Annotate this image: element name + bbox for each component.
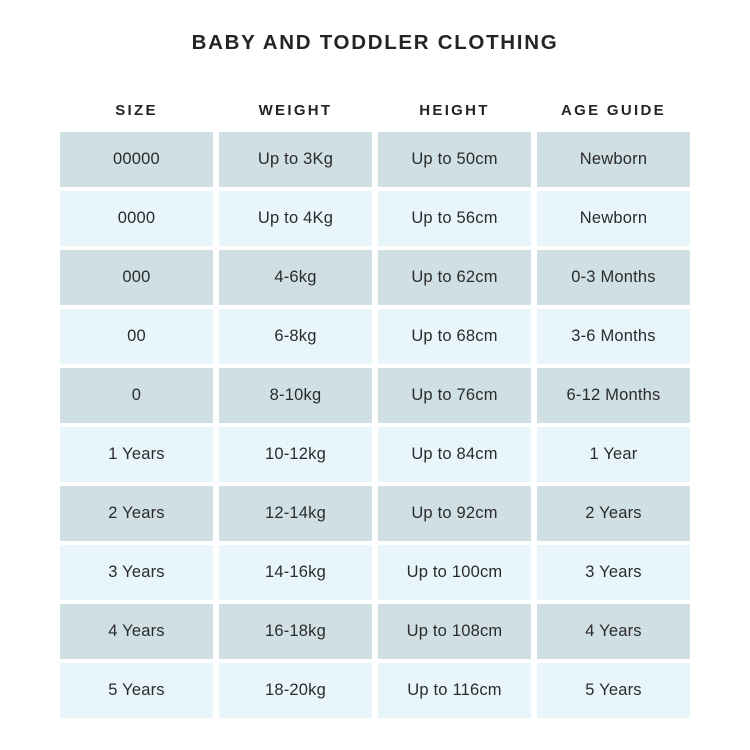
cell-size: 00	[60, 309, 213, 364]
cell-height: Up to 108cm	[378, 604, 531, 659]
table-row: 5 Years 18-20kg Up to 116cm 5 Years	[60, 663, 690, 718]
cell-size: 1 Years	[60, 427, 213, 482]
cell-weight: 6-8kg	[219, 309, 372, 364]
cell-age: Newborn	[537, 132, 690, 187]
cell-weight: 18-20kg	[219, 663, 372, 718]
table-row: 0 8-10kg Up to 76cm 6-12 Months	[60, 368, 690, 423]
cell-size: 3 Years	[60, 545, 213, 600]
cell-weight: 4-6kg	[219, 250, 372, 305]
table-row: 00 6-8kg Up to 68cm 3-6 Months	[60, 309, 690, 364]
cell-height: Up to 68cm	[378, 309, 531, 364]
table-row: 4 Years 16-18kg Up to 108cm 4 Years	[60, 604, 690, 659]
cell-age: Newborn	[537, 191, 690, 246]
cell-size: 4 Years	[60, 604, 213, 659]
size-chart-page: BABY AND TODDLER CLOTHING SIZE WEIGHT HE…	[0, 0, 750, 750]
cell-weight: 16-18kg	[219, 604, 372, 659]
column-header-height: HEIGHT	[378, 102, 531, 119]
cell-weight: 12-14kg	[219, 486, 372, 541]
cell-height: Up to 84cm	[378, 427, 531, 482]
cell-age: 5 Years	[537, 663, 690, 718]
cell-height: Up to 62cm	[378, 250, 531, 305]
cell-weight: Up to 4Kg	[219, 191, 372, 246]
column-header-size: SIZE	[60, 102, 213, 119]
table-row: 3 Years 14-16kg Up to 100cm 3 Years	[60, 545, 690, 600]
cell-size: 2 Years	[60, 486, 213, 541]
cell-height: Up to 50cm	[378, 132, 531, 187]
table-row: 000 4-6kg Up to 62cm 0-3 Months	[60, 250, 690, 305]
cell-age: 6-12 Months	[537, 368, 690, 423]
cell-size: 00000	[60, 132, 213, 187]
column-header-weight: WEIGHT	[219, 102, 372, 119]
table-row: 1 Years 10-12kg Up to 84cm 1 Year	[60, 427, 690, 482]
cell-size: 0	[60, 368, 213, 423]
cell-height: Up to 116cm	[378, 663, 531, 718]
column-header-age-guide: AGE GUIDE	[537, 102, 690, 119]
table-row: 2 Years 12-14kg Up to 92cm 2 Years	[60, 486, 690, 541]
cell-age: 3 Years	[537, 545, 690, 600]
cell-weight: 10-12kg	[219, 427, 372, 482]
table-header-row: SIZE WEIGHT HEIGHT AGE GUIDE	[60, 88, 690, 132]
cell-age: 4 Years	[537, 604, 690, 659]
cell-age: 0-3 Months	[537, 250, 690, 305]
cell-height: Up to 76cm	[378, 368, 531, 423]
cell-age: 3-6 Months	[537, 309, 690, 364]
table-row: 00000 Up to 3Kg Up to 50cm Newborn	[60, 132, 690, 187]
cell-size: 000	[60, 250, 213, 305]
cell-age: 2 Years	[537, 486, 690, 541]
cell-weight: 14-16kg	[219, 545, 372, 600]
cell-height: Up to 92cm	[378, 486, 531, 541]
cell-age: 1 Year	[537, 427, 690, 482]
table-body: 00000 Up to 3Kg Up to 50cm Newborn 0000 …	[60, 132, 690, 718]
cell-weight: Up to 3Kg	[219, 132, 372, 187]
cell-height: Up to 100cm	[378, 545, 531, 600]
size-guide-table: SIZE WEIGHT HEIGHT AGE GUIDE 00000 Up to…	[60, 88, 690, 718]
cell-height: Up to 56cm	[378, 191, 531, 246]
page-title: BABY AND TODDLER CLOTHING	[0, 30, 750, 56]
cell-size: 5 Years	[60, 663, 213, 718]
cell-weight: 8-10kg	[219, 368, 372, 423]
table-row: 0000 Up to 4Kg Up to 56cm Newborn	[60, 191, 690, 246]
cell-size: 0000	[60, 191, 213, 246]
